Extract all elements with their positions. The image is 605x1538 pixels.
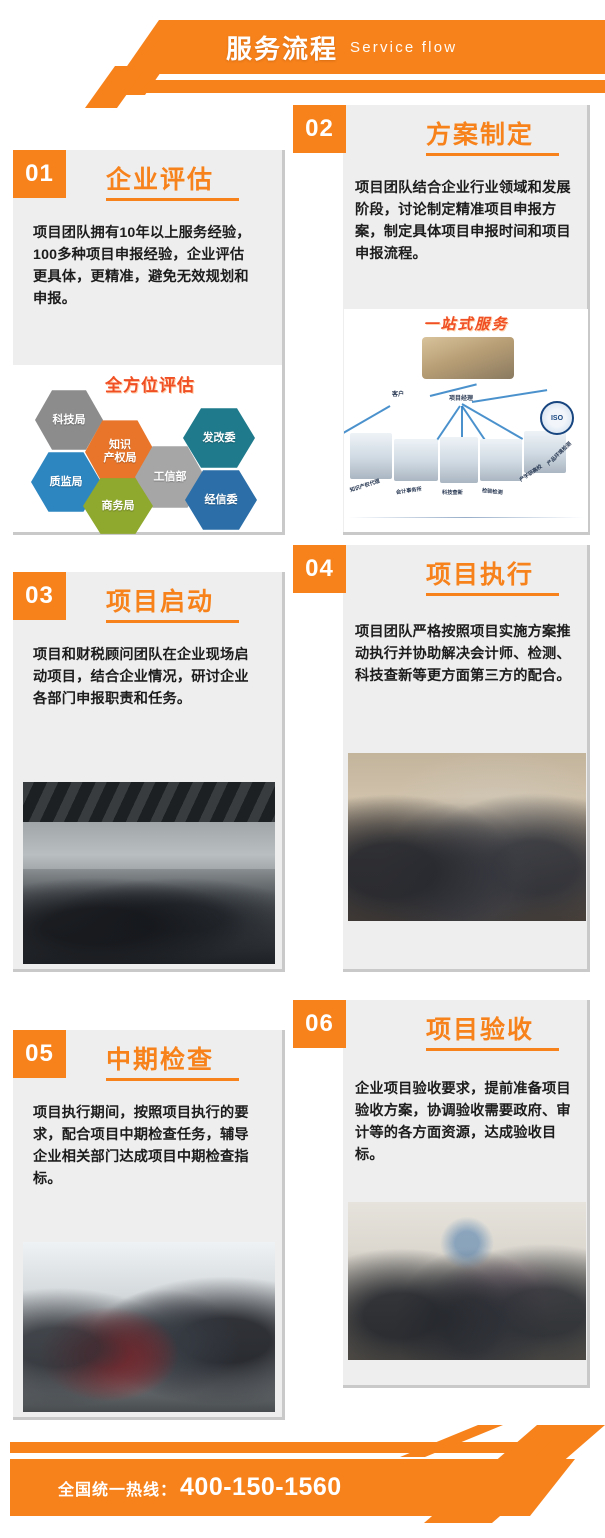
- step-photo-06: [348, 1202, 586, 1360]
- page-title: 服务流程: [226, 29, 338, 66]
- step-desc-03: 项目和财税顾问团队在企业现场启动项目，结合企业情况，研讨企业各部门申报职责和任务…: [33, 644, 255, 710]
- step-photo-05: [23, 1242, 275, 1412]
- photo-site-visit-image: [23, 1242, 275, 1412]
- oss-node-ip-agency: [350, 433, 392, 479]
- hotline-group: 全国统一热线： 400-150-1560: [58, 1459, 342, 1516]
- hex-label: 商务局: [102, 500, 135, 513]
- page-header: 服务流程 Service flow: [0, 0, 605, 108]
- hex-label: 发改委: [203, 432, 236, 445]
- oss-label-project-manager: 项目经理: [449, 393, 473, 402]
- hex-label: 质监局: [50, 476, 83, 489]
- hex-diagram-title: 全方位评估: [105, 371, 195, 396]
- step-title-06: 项目验收: [426, 1010, 534, 1046]
- step-number-badge-03: 03: [13, 572, 66, 620]
- step-title-03: 项目启动: [106, 582, 214, 618]
- all-round-assessment-diagram: 全方位评估 科技局 知识 产权局 发改委 质监局 工信部 商务局 经信委: [13, 365, 282, 532]
- step-title-rule-03: [106, 620, 239, 623]
- step-number-badge-04: 04: [293, 545, 346, 593]
- step-number-badge-01: 01: [13, 150, 66, 198]
- step-card-05[interactable]: 05 中期检查 项目执行期间，按照项目执行的要求，配合项目中期检查任务，辅导企业…: [13, 1030, 285, 1420]
- step-title-01: 企业评估: [106, 160, 214, 196]
- step-card-03[interactable]: 03 项目启动 项目和财税顾问团队在企业现场启动项目，结合企业情况，研讨企业各部…: [13, 572, 285, 972]
- step-number-badge-06: 06: [293, 1000, 346, 1048]
- oss-node-label-2: 科技查新: [442, 489, 463, 496]
- step-title-rule-02: [426, 153, 559, 156]
- hex-label: 科技局: [53, 414, 86, 427]
- oss-node-label-3: 检验检测: [482, 487, 503, 496]
- step-number-badge-05: 05: [13, 1030, 66, 1078]
- photo-acceptance-meeting-image: [348, 1202, 586, 1360]
- hex-label: 知识 产权局: [104, 439, 137, 465]
- step-title-rule-06: [426, 1048, 559, 1051]
- step-title-rule-05: [106, 1078, 239, 1081]
- step-card-06[interactable]: 06 项目验收 企业项目验收要求，提前准备项目验收方案，协调验收需要政府、审计等…: [293, 1000, 590, 1388]
- step-card-02[interactable]: 02 方案制定 项目团队结合企业行业领域和发展阶段，讨论制定精准项目申报方案，制…: [293, 105, 590, 535]
- one-stop-title: 一站式服务: [344, 313, 588, 334]
- infographic-page: 服务流程 Service flow 01 企业评估 项目团队拥有10年以上服务经…: [0, 0, 605, 1538]
- step-desc-04: 项目团队严格按照项目实施方案推动执行并协助解决会计师、检测、科技查新等更方面第三…: [355, 621, 577, 687]
- oss-node-tech-novelty: [440, 437, 478, 483]
- oss-node-label-0: 知识产权代理: [349, 478, 381, 494]
- photo-work-session-image: [348, 753, 586, 921]
- step-photo-04: [348, 753, 586, 921]
- step-number-badge-02: 02: [293, 105, 346, 153]
- step-desc-06: 企业项目验收要求，提前准备项目验收方案，协调验收需要政府、审计等的各方面资源，达…: [355, 1078, 577, 1166]
- hex-label: 经信委: [205, 494, 238, 507]
- header-bar-thin: [138, 80, 605, 93]
- oss-node-inspection: [480, 439, 522, 481]
- step-title-rule-01: [106, 198, 239, 201]
- page-footer: 全国统一热线： 400-150-1560: [0, 1424, 605, 1538]
- step-title-05: 中期检查: [106, 1040, 214, 1076]
- hotline-number[interactable]: 400-150-1560: [180, 1473, 342, 1502]
- oss-label-customer: 客户: [392, 389, 404, 398]
- oss-node-label-1: 会计事务所: [396, 485, 423, 496]
- step-title-rule-04: [426, 593, 559, 596]
- one-stop-service-diagram: 一站式服务 客户 项目经理 ISO 知识产权代理 会计事务所 科技查新 检验检测…: [344, 309, 588, 532]
- oss-iso-seal: ISO: [540, 401, 574, 435]
- page-subtitle: Service flow: [350, 39, 457, 56]
- oss-team-photo: [422, 337, 514, 379]
- photo-meeting-room-image: [23, 782, 275, 964]
- hotline-label: 全国统一热线：: [58, 1476, 177, 1500]
- step-card-01[interactable]: 01 企业评估 项目团队拥有10年以上服务经验，100多种项目申报经验，企业评估…: [13, 150, 285, 535]
- step-title-02: 方案制定: [426, 115, 534, 151]
- oss-baseline: [348, 517, 584, 518]
- step-desc-01: 项目团队拥有10年以上服务经验，100多种项目申报经验，企业评估更具体，更精准，…: [33, 222, 255, 310]
- step-card-04[interactable]: 04 项目执行 项目团队严格按照项目实施方案推动执行并协助解决会计师、检测、科技…: [293, 545, 590, 972]
- step-title-04: 项目执行: [426, 555, 534, 591]
- oss-node-accounting: [394, 439, 438, 481]
- header-title-group: 服务流程 Service flow: [226, 24, 457, 70]
- oss-arrow-2: [472, 389, 547, 403]
- step-desc-05: 项目执行期间，按照项目执行的要求，配合项目中期检查任务，辅导企业相关部门达成项目…: [33, 1102, 255, 1190]
- footer-bar-thin: [10, 1442, 550, 1453]
- hex-label: 工信部: [154, 471, 187, 484]
- step-photo-03: [23, 782, 275, 964]
- step-desc-02: 项目团队结合企业行业领域和发展阶段，讨论制定精准项目申报方案，制定具体项目申报时…: [355, 177, 577, 265]
